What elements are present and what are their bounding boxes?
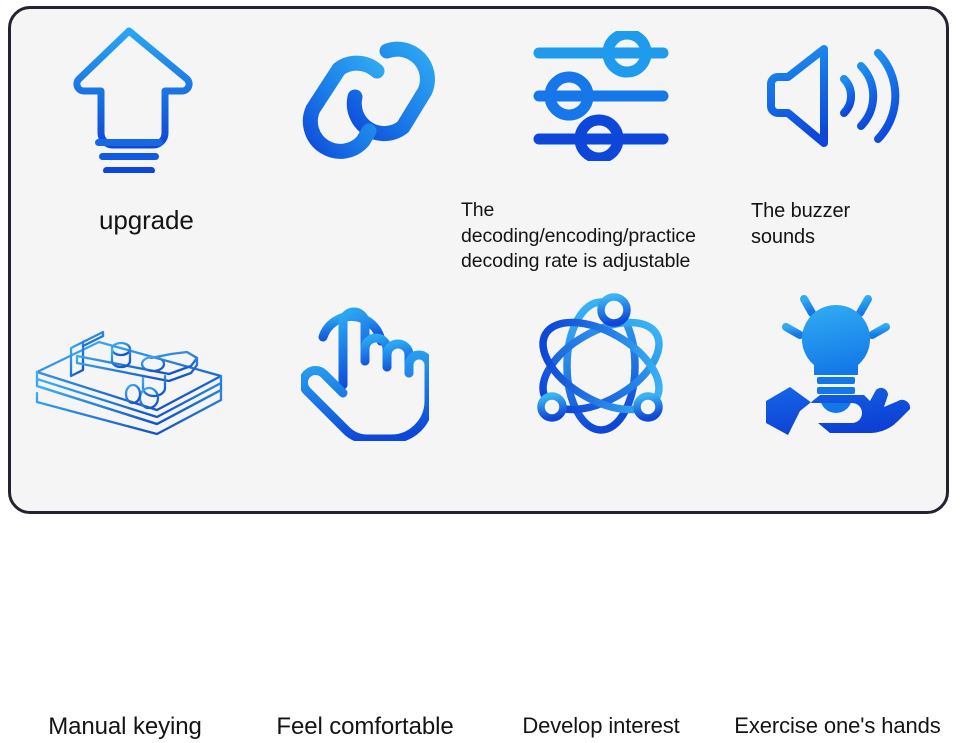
feature-item-upgrade: upgrade	[11, 13, 247, 271]
telegraph-key-icon	[11, 316, 247, 438]
tap-hand-icon	[247, 289, 483, 441]
feature-item-manual: Manual keying	[11, 271, 247, 511]
chain-link-icon	[247, 27, 483, 167]
lightbulb-hand-icon	[719, 283, 952, 441]
feature-label-exercise: Exercise one's hands	[721, 711, 954, 740]
upload-arrow-icon	[11, 23, 247, 173]
feature-item-rate	[483, 13, 719, 271]
features-grid: upgrade	[11, 9, 946, 511]
feature-item-exercise: Exercise one's hands	[719, 271, 952, 511]
feature-item-feel: Feel comfortable	[247, 271, 483, 511]
sliders-icon	[483, 31, 719, 161]
feature-item-buzzer: The buzzer sounds	[719, 13, 952, 271]
feature-label-upgrade: upgrade	[99, 203, 249, 237]
atom-icon	[483, 293, 719, 439]
feature-label-feel: Feel comfortable	[247, 711, 483, 743]
feature-label-buzzer: The buzzer sounds	[751, 198, 911, 251]
feature-item-interest: Develop interest	[483, 271, 719, 511]
feature-panel: upgrade	[8, 6, 949, 514]
feature-label-manual: Manual keying	[7, 711, 243, 743]
feature-item-adjustable: The decoding/encoding/practice decoding …	[247, 13, 483, 271]
feature-label-interest: Develop interest	[483, 711, 719, 740]
speaker-volume-icon	[719, 35, 952, 157]
